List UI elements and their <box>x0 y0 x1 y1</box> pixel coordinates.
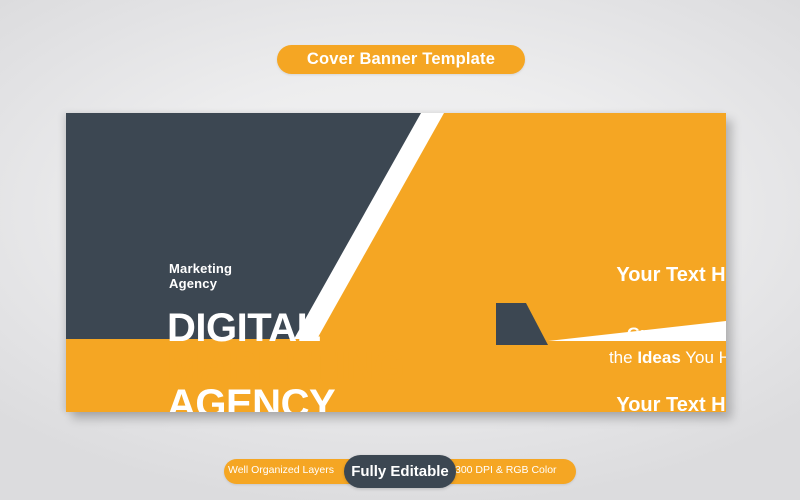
tagline-line-2: the Ideas You Have. <box>521 346 726 370</box>
tagline-line-1: Grow & Nature <box>521 322 726 346</box>
headline-block: DIGITAL MARKETING AGENCY <box>167 309 405 412</box>
fully-editable-badge: Fully Editable <box>344 455 456 488</box>
brand-kicker-line2: Agency <box>169 276 232 291</box>
feature-label-layers: Well Organized Layers <box>228 464 348 476</box>
right-tagline: Grow & Nature the Ideas You Have. <box>521 322 726 370</box>
headline-line-agency: AGENCY <box>167 385 405 412</box>
feature-label-dpi: 300 DPI & RGB Color <box>455 464 575 476</box>
tagline-word-ideas: Ideas <box>637 348 680 367</box>
tagline-word-nature: Nature <box>691 324 726 343</box>
brand-kicker: Marketing Agency <box>169 261 232 291</box>
tagline-ampersand: & <box>675 324 686 343</box>
banner-preview: Marketing Agency DIGITAL MARKETING AGENC… <box>66 113 726 412</box>
tagline-word-the: the <box>609 348 633 367</box>
banner-canvas: Marketing Agency DIGITAL MARKETING AGENC… <box>66 113 726 412</box>
headline-line-digital: DIGITAL <box>167 309 405 347</box>
tagline-word-grow: Grow <box>627 324 670 343</box>
fully-editable-badge-label: Fully Editable <box>351 463 449 480</box>
cover-banner-template-badge-label: Cover Banner Template <box>307 50 495 69</box>
brand-kicker-line1: Marketing <box>169 261 232 276</box>
right-text-top: Your Text Here <box>521 264 726 287</box>
right-text-bottom: Your Text Here <box>521 394 726 412</box>
cover-banner-template-badge: Cover Banner Template <box>277 45 525 74</box>
headline-line-marketing: MARKETING <box>167 347 405 385</box>
tagline-word-youhave: You Have. <box>685 348 726 367</box>
